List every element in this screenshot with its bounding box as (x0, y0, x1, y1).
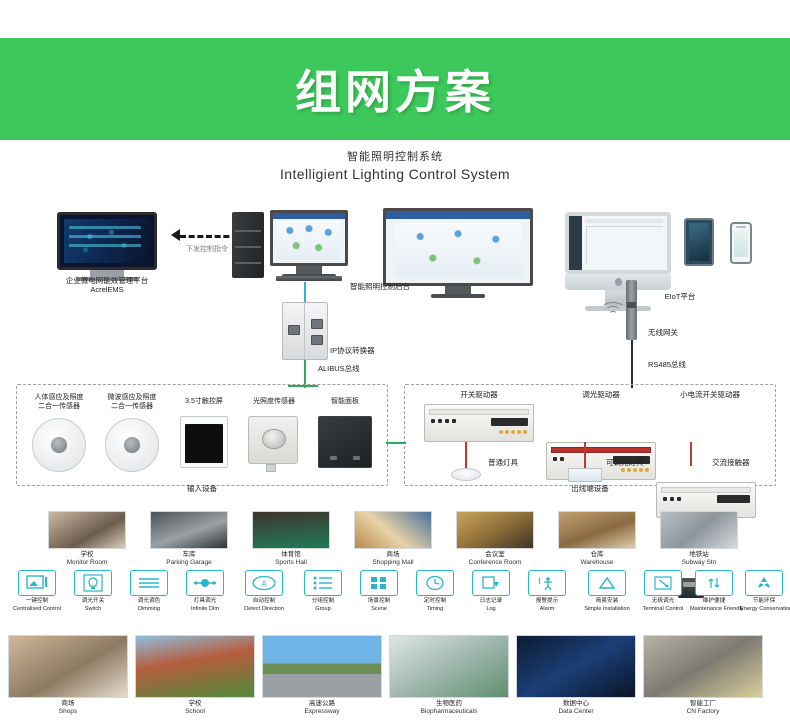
bottom-caption-2: 学校 School (135, 700, 255, 717)
module-buttons (553, 457, 564, 461)
system-title-en: Intelligient Lighting Control System (0, 166, 790, 182)
module-strip (429, 409, 528, 415)
feature-alarm[interactable]: 报警提示 Alarm (520, 570, 574, 613)
wifi-icon (600, 300, 626, 316)
feature-8-label: 定时控制 Timing (408, 598, 462, 613)
feature-6-label: 分组控制 Group (296, 598, 350, 613)
pc-screen-topology (277, 221, 340, 259)
ems-label-cn: 企业微电网能效管理平台 (66, 276, 149, 285)
bottom-caption-4-en: Biopharmaceuticals (421, 708, 478, 715)
eiot-platform-text: EIoT平台 (665, 292, 696, 301)
output-2-load-line (584, 442, 586, 468)
clock-icon (416, 570, 454, 596)
photo-subway-station (660, 511, 738, 549)
rs485-vertical (631, 340, 633, 388)
network-diagram: 智能照明控制系统 Intelligient Lighting Control S… (0, 140, 790, 510)
feature-3-label: 调光调色 Dimming (122, 598, 176, 613)
bottom-caption-2-cn: 学校 (189, 700, 202, 707)
photo-caption-1: 学校 Monitor Room (48, 551, 126, 568)
caption-2-cn: 车库 (183, 551, 196, 558)
bottom-caption-6: 智能工厂 CN Factory (643, 700, 763, 717)
converter-port (311, 319, 323, 329)
module-buttons (663, 497, 681, 501)
touch-panel-3p5 (180, 416, 228, 468)
feature-2-en: Switch (85, 606, 101, 612)
feature-4-en: Infinite Dim (191, 606, 219, 612)
caption-1-en: Monitor Room (67, 559, 108, 566)
feature-8-en: Timing (427, 606, 444, 612)
feature-10-label: 报警提示 Alarm (520, 598, 574, 613)
control-pc-1-screen (270, 210, 348, 266)
feature-12-cn: 无极调光 (652, 598, 674, 604)
output-group-title: 出线端设备 (540, 484, 640, 493)
page-root: 组网方案 智能照明控制系统 Intelligient Lighting Cont… (0, 0, 790, 724)
imac-grid (586, 226, 663, 265)
bottom-caption-1-cn: 商场 (62, 700, 75, 707)
control-pc-1 (270, 210, 348, 278)
feature-4-label: 灯具调光 Infinite Dim (178, 598, 232, 613)
input-group-title: 输入设备 (162, 484, 242, 493)
bottom-caption-5-cn: 数据中心 (563, 700, 589, 707)
switch-driver-module (424, 404, 534, 442)
output-load-1-text: 普通灯具 (488, 458, 518, 467)
feature-1-en: Centralised Control (13, 606, 61, 612)
feature-maintenance[interactable]: 维护便捷 Maintenance Friendly (690, 570, 738, 613)
wireless-gateway (626, 280, 637, 340)
feature-10-cn: 报警提示 (536, 598, 558, 604)
feature-4-cn: 灯具调光 (194, 598, 216, 604)
output-load-2-label: 可调光灯具 (606, 458, 668, 467)
input-device-4 (248, 416, 298, 464)
output-device-2-text: 调光驱动器 (582, 390, 620, 399)
photo-caption-2: 车库 Parking Garage (150, 551, 228, 568)
photo-caption-5: 会议室 Conference Room (456, 551, 534, 568)
rs485-text: RS485总线 (648, 360, 686, 369)
feature-5-en: Detect Direction (244, 606, 284, 612)
input-device-4-line1: 光照度传感器 (253, 398, 295, 405)
lighting-backend-label: 智能照明控制后台 (325, 282, 435, 291)
log-icon (472, 570, 510, 596)
feature-13-label: 维护便捷 Maintenance Friendly (690, 598, 738, 613)
bottom-caption-4-cn: 生物医药 (436, 700, 462, 707)
bottom-caption-1: 商场 Shops (8, 700, 128, 717)
bottom-caption-3-cn: 高速公路 (309, 700, 335, 707)
input-device-1 (32, 418, 86, 472)
feature-centralised-control[interactable]: 一键控制 Centralised Control (10, 570, 64, 613)
photo-monitor-room (48, 511, 126, 549)
feature-terminal-control[interactable]: 无极调光 Terminal Control (634, 570, 692, 613)
photo-expressway (262, 635, 382, 698)
photo-warehouse (558, 511, 636, 549)
photo-shops (8, 635, 128, 698)
feature-scene[interactable]: 场景控制 Scene (352, 570, 406, 613)
photo-biopharmaceuticals (389, 635, 509, 698)
auto-icon: A (245, 570, 283, 596)
output-load-3-label: 交流接触器 (712, 458, 774, 467)
gateway-band (627, 302, 636, 308)
input-device-1-label: 人体感应及照度 二合一传感器 (22, 394, 96, 412)
module-display (491, 418, 528, 426)
alibus-label: ALIBUS总线 (318, 364, 388, 373)
feature-dimming[interactable]: 调光调色 Dimming (122, 570, 176, 613)
input-device-1-line2: 二合一传感器 (38, 403, 80, 410)
feature-3-cn: 调光调色 (138, 598, 160, 604)
feature-11-en: Simple Installation (584, 606, 629, 612)
svg-text:A: A (261, 580, 267, 589)
feature-12-label: 无极调光 Terminal Control (634, 598, 692, 613)
photo-sports-hall (252, 511, 330, 549)
caption-1-cn: 学校 (81, 551, 94, 558)
feature-2-cn: 调光开关 (82, 598, 104, 604)
eiot-phone (730, 222, 752, 264)
tower-slot (235, 262, 261, 264)
bottom-caption-1-en: Shops (59, 708, 77, 715)
input-device-2 (105, 418, 159, 472)
caption-7-en: Subway Stn (682, 559, 717, 566)
photo-shopping-mall (354, 511, 432, 549)
feature-5-label: 自动控制 Detect Direction (234, 598, 294, 613)
input-device-2-line1: 微波感应及照度 (108, 394, 157, 401)
smart-panel (318, 416, 372, 468)
input-device-2-line2: 二合一传感器 (111, 403, 153, 410)
control-pc-2-screen (383, 208, 533, 286)
illuminance-sensor (248, 416, 298, 464)
sliders-icon (130, 570, 168, 596)
feature-group[interactable]: 分组控制 Group (296, 570, 350, 613)
feature-12-en: Terminal Control (643, 606, 684, 612)
bottom-caption-6-cn: 智能工厂 (690, 700, 716, 707)
rs485-label: RS485总线 (648, 360, 718, 369)
output-load-1-label: 普通灯具 (488, 458, 548, 467)
ems-screen (57, 212, 157, 270)
pc-stand (296, 266, 322, 274)
caption-3-en: Sports Hall (275, 559, 307, 566)
input-device-4-label: 光照度传感器 (238, 398, 310, 407)
output-3-load-line (690, 442, 692, 466)
feature-detect-direction[interactable]: A 自动控制 Detect Direction (234, 570, 294, 613)
bottom-caption-3: 高速公路 Expressway (262, 700, 382, 717)
system-title-cn: 智能照明控制系统 (0, 148, 790, 164)
input-device-3-label: 3.5寸触控屏 (172, 398, 236, 407)
bottom-caption-6-en: CN Factory (687, 708, 720, 715)
ip-converter-label: IP协议转换器 (330, 346, 410, 355)
person-alarm-icon (528, 570, 566, 596)
wire-icon (644, 570, 682, 596)
bottom-caption-4: 生物医药 Biopharmaceuticals (389, 700, 509, 717)
warning-icon (588, 570, 626, 596)
photo-smart-factory (643, 635, 763, 698)
wireless-gateway-label: 无线网关 (648, 328, 718, 337)
module-buttons (431, 419, 456, 423)
ordinary-lamp (451, 468, 481, 481)
output-device-3-text: 小电流开关驱动器 (680, 390, 740, 399)
feature-simple-installation[interactable]: 简易安装 Simple Installation (576, 570, 638, 613)
feature-14-en: Energy Conservation (740, 606, 790, 612)
feature-14-cn: 节能环保 (753, 598, 775, 604)
slider-dot-icon (186, 570, 224, 596)
pc-screen-topology (395, 223, 522, 278)
eiot-tablet (684, 218, 714, 266)
feature-1-label: 一键控制 Centralised Control (10, 598, 64, 613)
output-device-3-label: 小电流开关驱动器 (660, 390, 760, 399)
feature-13-en: Maintenance Friendly (690, 606, 743, 612)
photo-caption-3: 体育馆 Sports Hall (252, 551, 330, 568)
module-strip (661, 487, 751, 492)
imac-sidebar (569, 216, 582, 270)
keyboard-1 (276, 276, 342, 281)
photo-conference-room (456, 511, 534, 549)
feature-10-en: Alarm (540, 606, 555, 612)
ems-screen-bars (69, 226, 140, 253)
list-icon (304, 570, 342, 596)
phone-screen (734, 231, 748, 257)
feature-11-cn: 简易安装 (596, 598, 618, 604)
ip-converter-text: IP协议转换器 (330, 346, 375, 355)
tower-slot (235, 230, 261, 232)
server-tower (232, 212, 264, 278)
pc-stand (445, 286, 471, 294)
photo-data-center (516, 635, 636, 698)
bottom-caption-5-en: Data Center (558, 708, 593, 715)
screen-icon (18, 570, 56, 596)
feature-6-cn: 分组控制 (312, 598, 334, 604)
input-group-title-text: 输入设备 (187, 484, 217, 493)
converter-port (288, 325, 300, 335)
caption-2-en: Parking Garage (166, 559, 212, 566)
input-device-5 (318, 416, 372, 468)
pc-screen-header (386, 211, 530, 219)
module-leds (499, 430, 527, 434)
imac-screen (565, 212, 671, 274)
feature-6-en: Group (315, 606, 331, 612)
output-load-2-text: 可调光灯具 (606, 458, 644, 467)
caption-7-cn: 地铁站 (689, 551, 709, 558)
grid-icon (360, 570, 398, 596)
bus-into-output-group (386, 442, 406, 444)
caption-4-cn: 商场 (387, 551, 400, 558)
caption-4-en: Shopping Mall (372, 559, 413, 566)
recycle-icon (745, 570, 783, 596)
input-device-3-line1: 3.5寸触控屏 (185, 398, 223, 405)
output-device-2-label: 调光驱动器 (556, 390, 646, 399)
input-device-3 (180, 416, 228, 468)
feature-switch[interactable]: 调光开关 Switch (66, 570, 120, 613)
bus-into-input-group (288, 385, 318, 387)
alibus-text: ALIBUS总线 (318, 364, 360, 373)
caption-6-en: Warehouse (581, 559, 614, 566)
feature-7-label: 场景控制 Scene (352, 598, 406, 613)
caption-5-en: Conference Room (469, 559, 522, 566)
ip-protocol-converter (282, 302, 328, 360)
command-dashed-line (180, 235, 238, 238)
input-device-1-line1: 人体感应及照度 (35, 394, 84, 401)
input-device-5-line1: 智能面板 (331, 398, 359, 405)
feature-3-en: Dimming (138, 606, 160, 612)
feature-infinite-dim[interactable]: 灯具调光 Infinite Dim (178, 570, 232, 613)
wireless-gateway-text: 无线网关 (648, 328, 678, 337)
page-banner: 组网方案 (0, 38, 790, 140)
command-note-text: 下发控制指令 (186, 246, 228, 253)
bottom-caption-2-en: School (185, 708, 205, 715)
maintenance-icon (695, 570, 733, 596)
imac-topbar (586, 219, 663, 223)
output-device-1-label: 开关驱动器 (434, 390, 524, 399)
pir-illuminance-sensor (32, 418, 86, 472)
feature-9-cn: 日志记录 (480, 598, 502, 604)
ems-label: 企业微电网能效管理平台 AcrelEMS (47, 276, 167, 295)
feature-5-cn: 自动控制 (253, 598, 275, 604)
imac-chin (565, 274, 671, 290)
feature-9-en: Log (486, 606, 495, 612)
feature-log[interactable]: 日志记录 Log (464, 570, 518, 613)
pc-base (431, 294, 485, 298)
acrel-ems-monitor (57, 212, 157, 281)
module-strip (551, 447, 650, 453)
system-title: 智能照明控制系统 Intelligient Lighting Control S… (0, 148, 790, 182)
input-device-2-label: 微波感应及照度 二合一传感器 (95, 394, 169, 412)
feature-8-cn: 定时控制 (424, 598, 446, 604)
output-1-load-line (465, 442, 467, 468)
output-load-3-text: 交流接触器 (712, 458, 750, 467)
tablet-screen (689, 223, 709, 261)
feature-1-cn: 一键控制 (26, 598, 48, 604)
feature-14-label: 节能环保 Energy Conservation (740, 598, 788, 613)
bottom-caption-5: 数据中心 Data Center (516, 700, 636, 717)
caption-3-cn: 体育馆 (281, 551, 301, 558)
feature-7-en: Scene (371, 606, 387, 612)
photo-caption-6: 仓库 Warehouse (558, 551, 636, 568)
banner-title: 组网方案 (295, 56, 495, 122)
lighting-backend-text: 智能照明控制后台 (350, 282, 410, 291)
pc-screen-header (273, 213, 345, 219)
caption-6-cn: 仓库 (591, 551, 604, 558)
eiot-platform-label: EIoT平台 (640, 292, 720, 301)
microwave-illuminance-sensor (105, 418, 159, 472)
feature-13-cn: 维护便捷 (703, 598, 725, 604)
sensor-conduit (266, 464, 276, 472)
command-arrow-head (171, 229, 180, 241)
ems-label-en: AcrelEMS (90, 285, 123, 294)
feature-9-label: 日志记录 Log (464, 598, 518, 613)
output-device-1-text: 开关驱动器 (460, 390, 498, 399)
module-display (717, 495, 750, 502)
bus-line-pc-to-converter (304, 282, 306, 302)
bulb-icon (74, 570, 112, 596)
feature-energy-conservation[interactable]: 节能环保 Energy Conservation (740, 570, 788, 613)
module-leds (621, 468, 649, 472)
converter-port (311, 335, 323, 345)
dimmable-lamp (568, 468, 602, 482)
feature-2-label: 调光开关 Switch (66, 598, 120, 613)
input-device-5-label: 智能面板 (312, 398, 378, 407)
caption-5-cn: 会议室 (485, 551, 505, 558)
photo-school (135, 635, 255, 698)
feature-timing[interactable]: 定时控制 Timing (408, 570, 462, 613)
tower-slot (235, 246, 261, 248)
photo-parking-garage (150, 511, 228, 549)
output-group-title-text: 出线端设备 (571, 484, 609, 493)
feature-11-label: 简易安装 Simple Installation (576, 598, 638, 613)
photo-caption-7: 地铁站 Subway Stn (660, 551, 738, 568)
feature-7-cn: 场景控制 (368, 598, 390, 604)
phone-speaker (736, 226, 746, 228)
photo-caption-4: 商场 Shopping Mall (354, 551, 432, 568)
bottom-caption-3-en: Expressway (304, 708, 339, 715)
